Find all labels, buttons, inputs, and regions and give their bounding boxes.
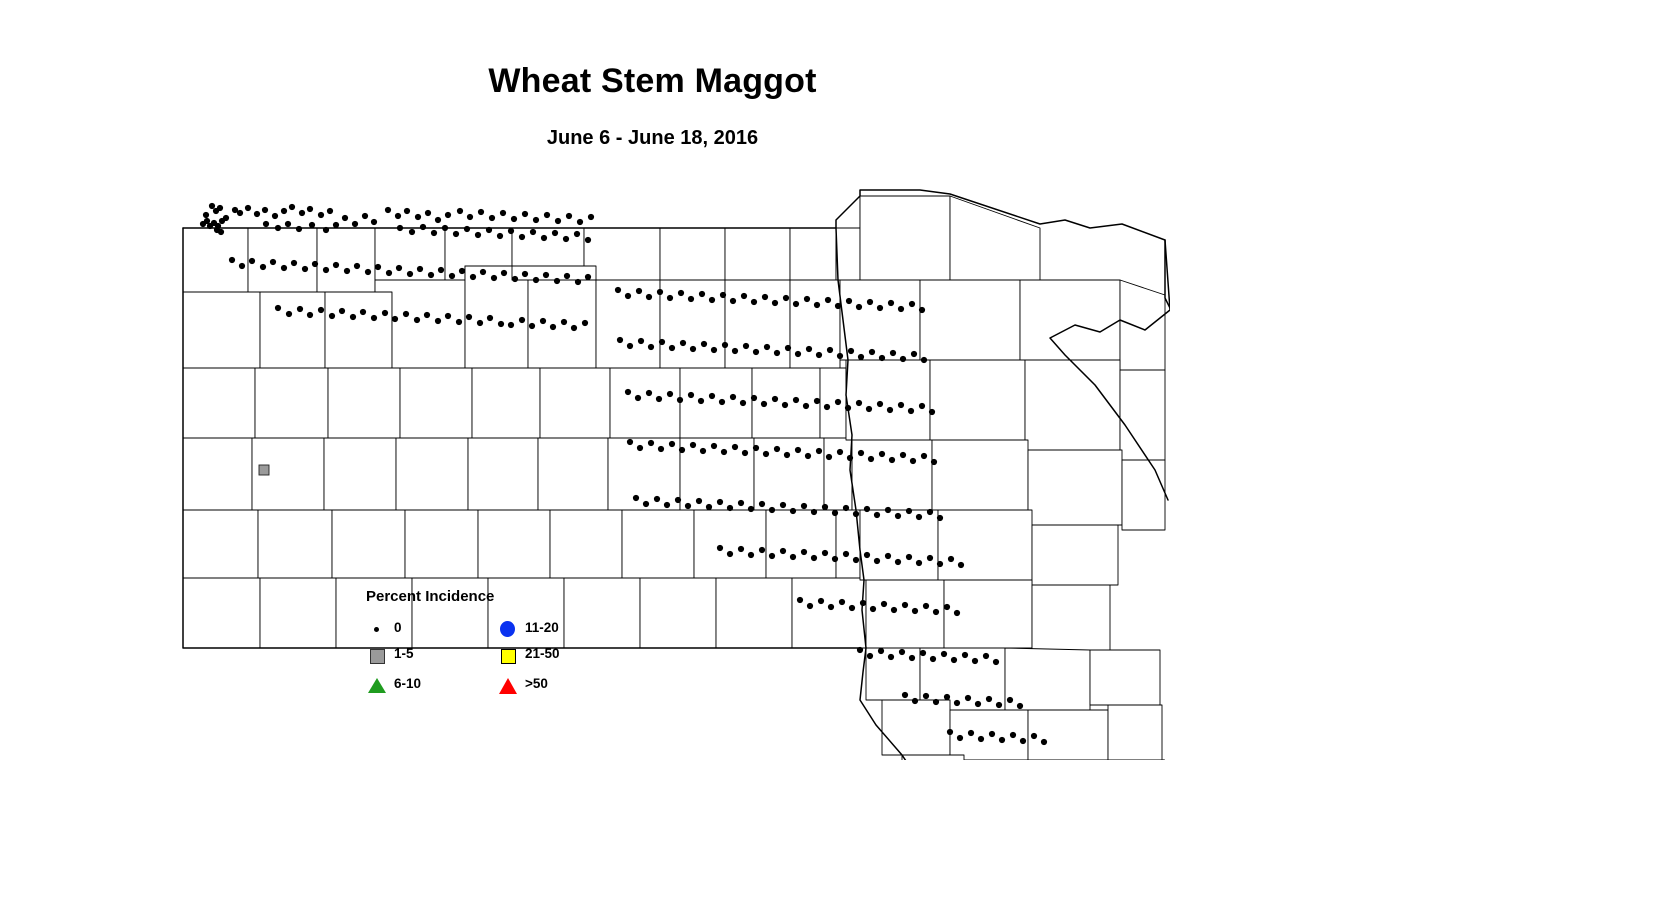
map-point-zero: [564, 273, 570, 279]
legend-label-21-50: 21-50: [525, 646, 560, 661]
map-point-zero: [285, 221, 291, 227]
map-point-zero: [656, 396, 662, 402]
map-point-zero: [790, 508, 796, 514]
map-point-zero: [916, 514, 922, 520]
map-point-zero: [544, 212, 550, 218]
map-point-zero: [957, 735, 963, 741]
map-point-zero: [245, 205, 251, 211]
map-point-zero: [318, 212, 324, 218]
map-point-zero: [965, 695, 971, 701]
map-point-zero: [910, 458, 916, 464]
map-point-zero: [522, 211, 528, 217]
map-point-zero: [309, 222, 315, 228]
map-point-zero: [617, 337, 623, 343]
map-point-zero: [867, 653, 873, 659]
map-point-zero: [291, 260, 297, 266]
map-point-zero: [927, 555, 933, 561]
map-point-zero: [911, 351, 917, 357]
map-point-zero: [811, 555, 817, 561]
map-point-zero: [921, 357, 927, 363]
map-point-zero: [818, 598, 824, 604]
map-point-zero: [360, 309, 366, 315]
map-point-zero: [968, 730, 974, 736]
map-point-zero: [635, 395, 641, 401]
map-point-zero: [646, 294, 652, 300]
legend-title: Percent Incidence: [366, 588, 494, 605]
map-point-zero: [675, 497, 681, 503]
map-point-zero: [480, 269, 486, 275]
map-point-zero: [664, 502, 670, 508]
map-point-zero: [239, 263, 245, 269]
map-point-zero: [920, 650, 926, 656]
map-point-zero: [764, 344, 770, 350]
map-point-zero: [409, 229, 415, 235]
map-point-zero: [435, 217, 441, 223]
map-point-zero: [797, 597, 803, 603]
map-point-zero: [803, 403, 809, 409]
map-point-zero: [1020, 738, 1026, 744]
map-point-zero: [923, 693, 929, 699]
map-point-zero: [696, 498, 702, 504]
map-point-zero: [512, 276, 518, 282]
map-point-zero: [732, 348, 738, 354]
map-point-zero: [978, 736, 984, 742]
map-point-zero: [371, 315, 377, 321]
map-point-zero: [218, 229, 224, 235]
map-point-zero: [323, 267, 329, 273]
map-svg: [160, 180, 1170, 760]
map-point-zero: [931, 459, 937, 465]
map-point-zero: [762, 294, 768, 300]
map-point-zero: [869, 349, 875, 355]
map-point-zero: [541, 235, 547, 241]
map-point-zero: [732, 444, 738, 450]
map-point-zero: [947, 729, 953, 735]
map-point-zero: [811, 509, 817, 515]
map-point-zero: [958, 562, 964, 568]
map-point-zero: [203, 212, 209, 218]
map-point-zero: [860, 600, 866, 606]
map-point-zero: [690, 442, 696, 448]
map-point-zero: [906, 508, 912, 514]
map-point-zero: [856, 304, 862, 310]
map-point-zero: [217, 205, 223, 211]
map-point-zero: [888, 654, 894, 660]
map-point-zero: [680, 340, 686, 346]
map-point-zero: [289, 204, 295, 210]
map-point-zero: [902, 692, 908, 698]
map-point-zero: [511, 216, 517, 222]
map-point-zero: [832, 510, 838, 516]
map-point-zero: [365, 269, 371, 275]
map-point-zero: [895, 513, 901, 519]
map-point-zero: [721, 449, 727, 455]
map-point-zero: [533, 277, 539, 283]
map-point-zero: [270, 259, 276, 265]
map-point-zero: [717, 499, 723, 505]
map-point-zero: [669, 441, 675, 447]
map-point-zero: [822, 550, 828, 556]
map-point-zero: [825, 297, 831, 303]
map-point-zero: [930, 656, 936, 662]
map-point-zero: [748, 552, 754, 558]
map-point-zero: [751, 395, 757, 401]
map-point-zero: [442, 225, 448, 231]
map-point-zero: [864, 506, 870, 512]
map-point-zero: [260, 264, 266, 270]
map-point-zero: [566, 213, 572, 219]
map-point-zero: [719, 399, 725, 405]
map-point-zero: [679, 447, 685, 453]
map-point-zero: [489, 215, 495, 221]
map-point-zero: [891, 607, 897, 613]
map-point-zero: [561, 319, 567, 325]
map-point-zero: [761, 401, 767, 407]
map-point-zero: [397, 225, 403, 231]
map-point-zero: [948, 556, 954, 562]
map-point-zero: [763, 451, 769, 457]
map-point-zero: [743, 343, 749, 349]
map-point-zero: [944, 604, 950, 610]
map-point-zero: [500, 210, 506, 216]
map-point-zero: [229, 257, 235, 263]
page-title: Wheat Stem Maggot: [0, 62, 1305, 101]
map-point-zero: [837, 449, 843, 455]
map-point-zero: [638, 338, 644, 344]
map-point-zero: [333, 262, 339, 268]
map-point-zero: [711, 443, 717, 449]
blue-circle-icon: [497, 618, 519, 640]
map-point-zero: [286, 311, 292, 317]
map-point-zero: [738, 546, 744, 552]
map-point-zero: [307, 206, 313, 212]
map-point-zero: [751, 299, 757, 305]
map-point-zero: [501, 270, 507, 276]
map-point-zero: [793, 301, 799, 307]
map-point-zero: [793, 397, 799, 403]
map-point-zero: [470, 274, 476, 280]
map-point-zero: [849, 605, 855, 611]
map-point-zero: [996, 702, 1002, 708]
map-point-zero: [975, 701, 981, 707]
map-point-zero: [333, 222, 339, 228]
map-point-zero: [706, 504, 712, 510]
map-point-zero: [1007, 697, 1013, 703]
map-point-zero: [828, 604, 834, 610]
map-point-zero: [741, 293, 747, 299]
map-point-zero: [508, 322, 514, 328]
map-point-zero: [678, 290, 684, 296]
map-point-zero: [877, 401, 883, 407]
map-point-zero: [753, 445, 759, 451]
gray-square-icon: [366, 644, 388, 666]
map-point-zero: [449, 273, 455, 279]
map-point-zero: [457, 208, 463, 214]
map-point-zero: [477, 320, 483, 326]
map-point-zero: [1041, 739, 1047, 745]
map-point-zero: [993, 659, 999, 665]
map-point-zero: [835, 399, 841, 405]
map-point-zero: [899, 649, 905, 655]
map-point-zero: [919, 403, 925, 409]
map-point-zero: [582, 320, 588, 326]
map-point-zero: [785, 345, 791, 351]
map-point-zero: [848, 348, 854, 354]
map-point-zero: [795, 447, 801, 453]
map-point-zero: [382, 310, 388, 316]
map-point-zero: [688, 392, 694, 398]
map-point-zero: [299, 210, 305, 216]
map-point-zero: [522, 271, 528, 277]
map-point-zero: [342, 215, 348, 221]
map-point-zero: [846, 298, 852, 304]
map-point-zero: [435, 318, 441, 324]
map-point-zero: [688, 296, 694, 302]
map-point-zero: [864, 552, 870, 558]
map-point-zero: [275, 305, 281, 311]
map-point-zero: [814, 398, 820, 404]
map-point-zero: [867, 299, 873, 305]
map-point-low: [259, 465, 269, 475]
map-point-zero: [730, 298, 736, 304]
map-point-zero: [937, 515, 943, 521]
map-point-zero: [933, 699, 939, 705]
map-point-zero: [392, 316, 398, 322]
map-point-zero: [954, 610, 960, 616]
map-point-zero: [550, 324, 556, 330]
map-point-zero: [552, 230, 558, 236]
map-point-zero: [254, 211, 260, 217]
map-point-zero: [769, 553, 775, 559]
map-point-zero: [519, 234, 525, 240]
map-point-zero: [795, 351, 801, 357]
red-triangle-icon: [497, 674, 519, 696]
map-point-zero: [659, 339, 665, 345]
map-point-zero: [826, 454, 832, 460]
map-point-zero: [722, 342, 728, 348]
map-point-zero: [209, 203, 215, 209]
map-point-zero: [738, 500, 744, 506]
map-point-zero: [827, 347, 833, 353]
map-point-zero: [916, 560, 922, 566]
map-point-zero: [223, 215, 229, 221]
map-point-zero: [933, 609, 939, 615]
map-point-zero: [881, 601, 887, 607]
map-point-zero: [900, 356, 906, 362]
map-point-zero: [890, 350, 896, 356]
map-point-zero: [530, 229, 536, 235]
small-black-dot-icon: [366, 618, 388, 640]
map-point-zero: [972, 658, 978, 664]
map-point-zero: [648, 440, 654, 446]
map-point-zero: [249, 258, 255, 264]
map-point-zero: [866, 406, 872, 412]
map-point-zero: [879, 355, 885, 361]
legend-label-0: 0: [394, 620, 402, 635]
map-point-zero: [711, 347, 717, 353]
map-point-zero: [889, 457, 895, 463]
map-point-zero: [780, 548, 786, 554]
map-point-zero: [730, 394, 736, 400]
map-point-zero: [428, 272, 434, 278]
map-point-zero: [782, 402, 788, 408]
map-point-zero: [486, 227, 492, 233]
map-point-zero: [717, 545, 723, 551]
map-point-zero: [801, 549, 807, 555]
map-point-zero: [339, 308, 345, 314]
map-point-zero: [937, 561, 943, 567]
minnesota-counties: [836, 196, 1166, 760]
map-point-zero: [902, 602, 908, 608]
map-point-zero: [845, 405, 851, 411]
map-point-zero: [874, 512, 880, 518]
map-point-zero: [403, 311, 409, 317]
map-point-zero: [643, 501, 649, 507]
map-point-zero: [774, 350, 780, 356]
map-point-zero: [445, 212, 451, 218]
legend-label-1-5: 1-5: [394, 646, 414, 661]
map-point-zero: [508, 228, 514, 234]
map-point-zero: [350, 314, 356, 320]
map-point-zero: [571, 325, 577, 331]
map-point-zero: [263, 221, 269, 227]
map-point-zero: [909, 655, 915, 661]
map-point-zero: [533, 217, 539, 223]
map-point-zero: [941, 651, 947, 657]
map-point-zero: [898, 306, 904, 312]
map-point-zero: [853, 511, 859, 517]
map-point-zero: [874, 558, 880, 564]
map-point-zero: [554, 278, 560, 284]
map-point-zero: [497, 233, 503, 239]
map-point-zero: [575, 279, 581, 285]
map-point-zero: [951, 657, 957, 663]
map-point-zero: [832, 556, 838, 562]
map-point-zero: [837, 353, 843, 359]
map-point-zero: [1031, 733, 1037, 739]
map-point-zero: [919, 307, 925, 313]
map-point-zero: [636, 288, 642, 294]
map-point-zero: [487, 315, 493, 321]
map-point-zero: [944, 694, 950, 700]
map-point-zero: [868, 456, 874, 462]
map-point-zero: [898, 402, 904, 408]
map-point-zero: [312, 261, 318, 267]
map-point-zero: [857, 647, 863, 653]
green-triangle-icon: [366, 674, 388, 696]
legend: Percent Incidence 0 1-5 6-10 11-20 21-50…: [366, 588, 616, 698]
map-point-zero: [801, 503, 807, 509]
map-point-zero: [962, 652, 968, 658]
map-point-zero: [352, 221, 358, 227]
map-point-zero: [625, 293, 631, 299]
map-point-zero: [983, 653, 989, 659]
map-point-zero: [371, 219, 377, 225]
map-point-zero: [415, 214, 421, 220]
legend-label-over-50: >50: [525, 676, 548, 691]
map-point-zero: [885, 553, 891, 559]
map-point-zero: [574, 231, 580, 237]
map-point-zero: [648, 344, 654, 350]
map-point-zero: [805, 453, 811, 459]
map-point-zero: [424, 312, 430, 318]
map-point-zero: [774, 446, 780, 452]
map-point-zero: [478, 209, 484, 215]
map-point-zero: [804, 296, 810, 302]
map-point-zero: [856, 400, 862, 406]
map-point-zero: [720, 292, 726, 298]
map-point-zero: [237, 210, 243, 216]
map-point-zero: [456, 319, 462, 325]
map-point-zero: [790, 554, 796, 560]
map-point-zero: [858, 354, 864, 360]
map-point-zero: [615, 287, 621, 293]
map-point-zero: [420, 224, 426, 230]
map-point-zero: [272, 213, 278, 219]
map-point-zero: [690, 346, 696, 352]
map-point-zero: [772, 300, 778, 306]
yellow-square-icon: [497, 644, 519, 666]
map-point-zero: [887, 407, 893, 413]
map-point-zero: [302, 266, 308, 272]
map-point-zero: [281, 265, 287, 271]
map-point-zero: [772, 396, 778, 402]
map-point-zero: [404, 208, 410, 214]
map-point-zero: [585, 237, 591, 243]
map-point-zero: [467, 214, 473, 220]
map-point-zero: [885, 507, 891, 513]
map-point-zero: [329, 313, 335, 319]
map-point-zero: [927, 509, 933, 515]
map-point-zero: [843, 505, 849, 511]
map-point-zero: [727, 505, 733, 511]
map-point-zero: [262, 207, 268, 213]
map-point-zero: [417, 266, 423, 272]
map-point-zero: [540, 318, 546, 324]
map-point-zero: [657, 289, 663, 295]
map-point-zero: [727, 551, 733, 557]
map-point-zero: [879, 451, 885, 457]
map-point-zero: [431, 230, 437, 236]
map-point-zero: [627, 439, 633, 445]
map-point-zero: [929, 409, 935, 415]
map-point-zero: [275, 225, 281, 231]
map-point-zero: [699, 291, 705, 297]
map-point-zero: [498, 321, 504, 327]
incidence-map: [160, 180, 1170, 760]
map-point-zero: [816, 352, 822, 358]
map-point-zero: [753, 349, 759, 355]
map-point-zero: [529, 323, 535, 329]
map-point-zero: [740, 400, 746, 406]
map-point-zero: [637, 445, 643, 451]
map-point-zero: [878, 648, 884, 654]
map-point-zero: [759, 501, 765, 507]
map-point-zero: [895, 559, 901, 565]
map-point-zero: [843, 551, 849, 557]
map-point-zero: [698, 398, 704, 404]
legend-label-11-20: 11-20: [525, 620, 559, 635]
north-dakota-counties: [183, 228, 866, 648]
map-point-zero: [900, 452, 906, 458]
map-point-zero: [1010, 732, 1016, 738]
map-point-zero: [654, 496, 660, 502]
map-point-zero: [585, 274, 591, 280]
map-point-zero: [466, 314, 472, 320]
map-point-zero: [999, 737, 1005, 743]
map-point-zero: [824, 404, 830, 410]
map-point-zero: [563, 236, 569, 242]
